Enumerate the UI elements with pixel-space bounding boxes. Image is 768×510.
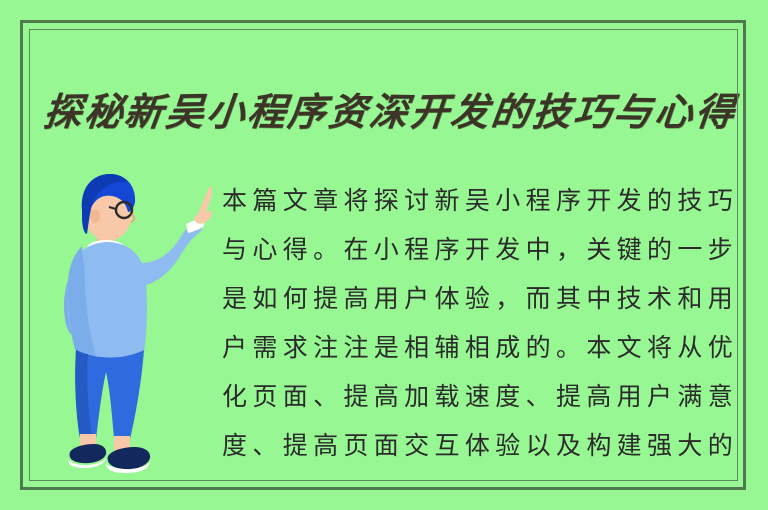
article-glyph: 吴	[465, 176, 491, 225]
article-glyph: 技	[617, 274, 643, 323]
article-glyph: 高	[586, 372, 612, 421]
page-title: 探秘新吴小程序资深开发的技巧与心得	[44, 77, 734, 139]
article-glyph: 开	[465, 225, 491, 274]
article-glyph: 。	[313, 225, 339, 274]
article-glyph: 度	[495, 372, 521, 421]
article-glyph: 求	[283, 323, 309, 372]
article-line: 是如何提高用户体验，而其中技术和用	[222, 274, 734, 323]
article-glyph: 相	[404, 323, 430, 372]
article-glyph: 序	[556, 176, 582, 225]
article-glyph: 的	[526, 323, 552, 372]
article-glyph: 交	[404, 421, 430, 470]
article-glyph: 提	[283, 421, 309, 470]
article-glyph: 探	[374, 176, 400, 225]
title-glyph: 与	[611, 81, 656, 137]
article-glyph: 在	[343, 225, 369, 274]
title-glyph: 的	[489, 81, 534, 137]
article-glyph: 注	[343, 323, 369, 372]
article-glyph: ，	[556, 225, 582, 274]
article-glyph: 载	[435, 372, 461, 421]
article-glyph: 相	[465, 323, 491, 372]
article-glyph: 意	[708, 372, 734, 421]
article-glyph: 步	[708, 225, 734, 274]
article-glyph: 速	[465, 372, 491, 421]
title-glyph: 深	[366, 81, 411, 137]
title-glyph: 开	[408, 81, 451, 137]
article-glyph: 加	[404, 372, 430, 421]
title-glyph: 得	[693, 81, 737, 136]
title-glyph: 序	[286, 81, 329, 137]
title-glyph: 发	[448, 81, 492, 136]
article-glyph: 优	[708, 323, 734, 372]
article-line: 户需求注注是相辅相成的。本文将从优	[222, 323, 734, 372]
title-glyph: 探	[42, 81, 85, 137]
article-glyph: 满	[677, 372, 703, 421]
article-line: 化页面、提高加载速度、提高用户满意	[222, 372, 734, 421]
article-glyph: 文	[283, 176, 309, 225]
illustration-shoe-right	[108, 447, 150, 469]
article-glyph: 面	[374, 421, 400, 470]
article-glyph: 发	[617, 176, 643, 225]
title-glyph: 技	[530, 81, 573, 137]
article-glyph: 小	[495, 176, 521, 225]
article-line: 度、提高页面交互体验以及构建强大的	[222, 421, 734, 470]
title-glyph: 资	[326, 81, 370, 136]
article-glyph: 提	[313, 274, 339, 323]
article-glyph: 成	[495, 323, 521, 372]
article-glyph: 用	[374, 274, 400, 323]
article-line: 本篇文章将探讨新吴小程序开发的技巧	[222, 176, 734, 225]
article-glyph: 互	[435, 421, 461, 470]
article-glyph: 是	[222, 274, 248, 323]
article-glyph: 。	[556, 323, 582, 372]
article-glyph: 高	[343, 274, 369, 323]
article-glyph: 体	[435, 274, 461, 323]
poster-canvas: 探秘新吴小程序资深开发的技巧与心得 本篇文章将探讨新吴小程序开发的技巧与心得。在…	[0, 0, 768, 510]
article-glyph: 从	[677, 323, 703, 372]
article-glyph: 提	[343, 372, 369, 421]
article-glyph: 的	[647, 176, 673, 225]
article-glyph: ，	[495, 274, 521, 323]
article-glyph: 如	[252, 274, 278, 323]
article-glyph: 提	[556, 372, 582, 421]
article-glyph: 得	[283, 225, 309, 274]
article-glyph: 以	[526, 421, 552, 470]
article-glyph: 章	[313, 176, 339, 225]
illustration-shoe-left	[70, 444, 107, 463]
title-glyph: 心	[653, 81, 696, 137]
article-glyph: 技	[677, 176, 703, 225]
man-pointing-illustration	[52, 166, 212, 480]
article-glyph: 用	[617, 372, 643, 421]
article-glyph: 发	[495, 225, 521, 274]
article-glyph: 构	[586, 421, 612, 470]
article-glyph: 键	[617, 225, 643, 274]
article-glyph: 的	[708, 421, 734, 470]
article-glyph: 程	[526, 176, 552, 225]
article-glyph: 强	[647, 421, 673, 470]
article-glyph: 用	[708, 274, 734, 323]
illustration-pointing-hand	[194, 187, 212, 224]
article-glyph: 巧	[708, 176, 734, 225]
article-glyph: 一	[677, 225, 703, 274]
article-glyph: 验	[465, 274, 491, 323]
title-glyph: 吴	[164, 81, 207, 137]
title-glyph: 小	[204, 81, 248, 136]
title-glyph: 秘	[82, 81, 126, 136]
article-glyph: 心	[252, 225, 278, 274]
article-glyph: 户	[647, 372, 673, 421]
article-glyph: 是	[374, 323, 400, 372]
article-glyph: 户	[222, 323, 248, 372]
article-line: 与心得。在小程序开发中，关键的一步	[222, 225, 734, 274]
illustration-ear	[90, 209, 100, 223]
article-glyph: 、	[526, 372, 552, 421]
article-glyph: 高	[374, 372, 400, 421]
article-glyph: 小	[374, 225, 400, 274]
article-glyph: 将	[343, 176, 369, 225]
title-glyph: 新	[122, 81, 167, 137]
article-glyph: 本	[586, 323, 612, 372]
article-glyph: 中	[526, 225, 552, 274]
article-glyph: 其	[556, 274, 582, 323]
article-glyph: 辅	[435, 323, 461, 372]
article-glyph: 将	[647, 323, 673, 372]
article-glyph: 序	[435, 225, 461, 274]
article-glyph: 关	[586, 225, 612, 274]
article-glyph: 开	[586, 176, 612, 225]
article-glyph: 页	[343, 421, 369, 470]
article-glyph: 注	[313, 323, 339, 372]
article-glyph: 建	[617, 421, 643, 470]
article-glyph: 体	[465, 421, 491, 470]
article-glyph: 大	[677, 421, 703, 470]
article-glyph: 度	[222, 421, 248, 470]
article-glyph: 本	[222, 176, 248, 225]
article-glyph: 何	[283, 274, 309, 323]
title-glyph: 巧	[571, 81, 615, 136]
article-glyph: 化	[222, 372, 248, 421]
article-glyph: 页	[252, 372, 278, 421]
article-glyph: 需	[252, 323, 278, 372]
article-glyph: 程	[404, 225, 430, 274]
article-glyph: 户	[404, 274, 430, 323]
article-glyph: 而	[526, 274, 552, 323]
title-glyph: 程	[244, 81, 289, 137]
article-glyph: 新	[435, 176, 461, 225]
article-glyph: 面	[283, 372, 309, 421]
article-glyph: 讨	[404, 176, 430, 225]
article-glyph: 和	[677, 274, 703, 323]
article-glyph: 文	[617, 323, 643, 372]
article-glyph: 篇	[252, 176, 278, 225]
article-glyph: 、	[252, 421, 278, 470]
article-glyph: 高	[313, 421, 339, 470]
article-glyph: 、	[313, 372, 339, 421]
article-glyph: 及	[556, 421, 582, 470]
article-glyph: 术	[647, 274, 673, 323]
article-glyph: 的	[647, 225, 673, 274]
article-glyph: 验	[495, 421, 521, 470]
article-body: 本篇文章将探讨新吴小程序开发的技巧与心得。在小程序开发中，关键的一步是如何提高用…	[222, 176, 734, 476]
article-glyph: 与	[222, 225, 248, 274]
article-glyph: 中	[586, 274, 612, 323]
